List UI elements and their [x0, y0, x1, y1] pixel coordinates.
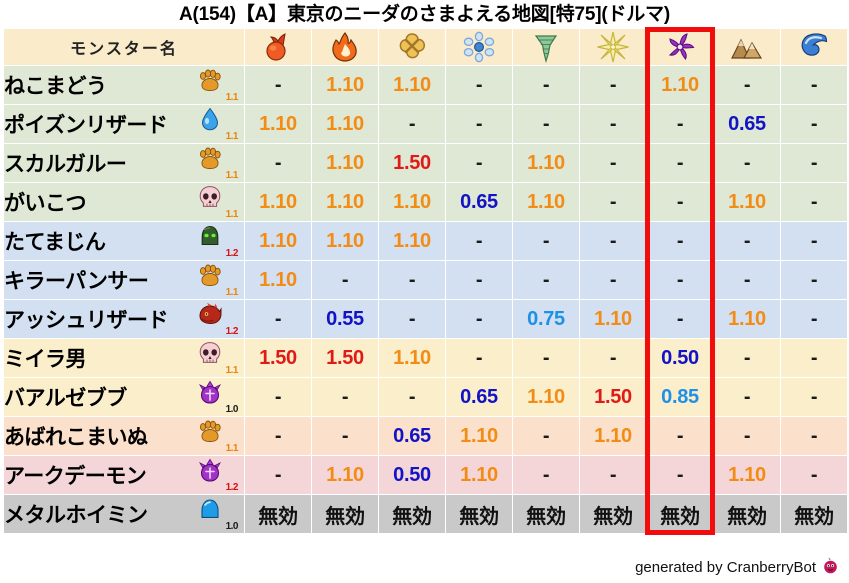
cell-doruma: 無効 [647, 495, 713, 533]
cell-mera: - [245, 456, 311, 494]
monster-name-cell[interactable]: たてまじん1.2 [4, 222, 244, 260]
table-row[interactable]: たてまじん1.21.101.101.10------ [4, 222, 847, 260]
cell-jibaria: - [714, 339, 780, 377]
cell-io: 0.65 [379, 417, 445, 455]
cell-jibaria: - [714, 222, 780, 260]
table-row[interactable]: キラーパンサー1.11.10-------- [4, 261, 847, 299]
cell-gira: 1.10 [312, 66, 378, 104]
header-element-bagi[interactable] [513, 29, 579, 65]
cell-io: 1.10 [379, 66, 445, 104]
table-row[interactable]: アッシュリザード1.2-0.55--0.751.10-1.10- [4, 300, 847, 338]
cell-doruma: 0.85 [647, 378, 713, 416]
cell-merag: - [781, 300, 847, 338]
cell-hyado: 1.10 [446, 417, 512, 455]
cell-dein: - [580, 66, 646, 104]
monster-name-label: がいこつ [4, 187, 86, 217]
header-element-hyado[interactable] [446, 29, 512, 65]
cell-mera: - [245, 66, 311, 104]
cell-jibaria: - [714, 378, 780, 416]
cell-mera: - [245, 300, 311, 338]
monster-version-label: 1.1 [226, 366, 238, 376]
monster-type-badge: 1.1 [194, 419, 238, 453]
cell-gira: 1.10 [312, 105, 378, 143]
cell-dein: - [580, 105, 646, 143]
cell-merag: - [781, 339, 847, 377]
monster-version-label: 1.0 [226, 405, 238, 415]
monster-name-cell[interactable]: アッシュリザード1.2 [4, 300, 244, 338]
cell-dein: 1.10 [580, 417, 646, 455]
monster-type-badge: 1.1 [194, 68, 238, 102]
cell-jibaria: - [714, 261, 780, 299]
table-row[interactable]: ミイラ男1.11.501.501.10---0.50-- [4, 339, 847, 377]
cell-bagi: - [513, 417, 579, 455]
monster-version-label: 1.1 [226, 210, 238, 220]
cell-bagi: 1.10 [513, 144, 579, 182]
cell-bagi: - [513, 456, 579, 494]
monster-version-label: 1.2 [226, 327, 238, 337]
cell-jibaria: 無効 [714, 495, 780, 533]
header-element-doruma[interactable] [647, 29, 713, 65]
cell-hyado: - [446, 300, 512, 338]
cell-bagi: 1.10 [513, 378, 579, 416]
monster-name-label: アークデーモン [4, 460, 146, 490]
cell-hyado: 0.65 [446, 378, 512, 416]
cell-io: 1.10 [379, 222, 445, 260]
cell-jibaria: - [714, 417, 780, 455]
monster-type-badge: 1.2 [194, 458, 238, 492]
table-body: ねこまどう1.1-1.101.10---1.10--ポイズンリザード1.11.1… [4, 66, 847, 533]
footer-credit: generated by CranberryBot [635, 557, 839, 577]
waterdrop-icon [196, 107, 224, 137]
table-row[interactable]: メタルホイミン1.0無効無効無効無効無効無効無効無効無効 [4, 495, 847, 533]
monster-type-badge: 1.0 [194, 497, 238, 531]
pinwheel-icon [647, 31, 713, 63]
lightstar-icon [580, 31, 646, 63]
footer-text: generated by CranberryBot [635, 559, 816, 576]
cell-doruma: - [647, 144, 713, 182]
monster-type-badge: 1.1 [194, 146, 238, 180]
table-row[interactable]: バアルゼブブ1.0---0.651.101.500.85-- [4, 378, 847, 416]
monster-name-label: スカルガルー [4, 148, 126, 178]
monster-name-label: アッシュリザード [4, 304, 168, 334]
header-element-dein[interactable] [580, 29, 646, 65]
cell-doruma: 0.50 [647, 339, 713, 377]
cell-dein: - [580, 456, 646, 494]
monster-name-label: ミイラ男 [4, 343, 86, 373]
cell-merag: - [781, 144, 847, 182]
cell-mera: 1.10 [245, 222, 311, 260]
cell-io: - [379, 261, 445, 299]
table-row[interactable]: アークデーモン1.2-1.100.501.10---1.10- [4, 456, 847, 494]
cell-hyado: 1.10 [446, 456, 512, 494]
table-row[interactable]: あばれこまいぬ1.1--0.651.10-1.10--- [4, 417, 847, 455]
header-element-jibaria[interactable] [714, 29, 780, 65]
cell-bagi: 1.10 [513, 183, 579, 221]
flame-icon [312, 31, 378, 63]
cell-hyado: 無効 [446, 495, 512, 533]
cell-doruma: - [647, 300, 713, 338]
cell-mera: 1.50 [245, 339, 311, 377]
cranberry-icon [822, 557, 839, 577]
cell-io: 無効 [379, 495, 445, 533]
pawprint-icon [196, 419, 224, 449]
cell-gira: 1.10 [312, 456, 378, 494]
cell-doruma: - [647, 456, 713, 494]
cell-io: 0.50 [379, 456, 445, 494]
cell-dein: 1.50 [580, 378, 646, 416]
header-element-merag[interactable] [781, 29, 847, 65]
cell-mera: - [245, 417, 311, 455]
monster-name-label: あばれこまいぬ [4, 421, 148, 451]
mountain-icon [714, 31, 780, 63]
cell-io: 1.10 [379, 183, 445, 221]
cell-hyado: - [446, 339, 512, 377]
cell-merag: - [781, 105, 847, 143]
table-row[interactable]: ポイズンリザード1.11.101.10-----0.65- [4, 105, 847, 143]
monster-type-badge: 1.1 [194, 185, 238, 219]
header-element-mera[interactable] [245, 29, 311, 65]
monster-version-label: 1.1 [226, 444, 238, 454]
wave-icon [781, 31, 847, 63]
demon-icon [196, 380, 224, 410]
snowflake-icon [446, 31, 512, 63]
monster-name-cell[interactable]: ねこまどう1.1 [4, 66, 244, 104]
cell-jibaria: 1.10 [714, 300, 780, 338]
monster-version-label: 1.1 [226, 93, 238, 103]
cell-dein: - [580, 144, 646, 182]
cell-gira: - [312, 378, 378, 416]
cell-jibaria: - [714, 66, 780, 104]
cell-mera: 1.10 [245, 105, 311, 143]
cell-dein: - [580, 339, 646, 377]
cell-doruma: 1.10 [647, 66, 713, 104]
cell-gira: 1.10 [312, 222, 378, 260]
cell-dein: 1.10 [580, 300, 646, 338]
monster-name-cell[interactable]: バアルゼブブ1.0 [4, 378, 244, 416]
monster-type-badge: 1.1 [194, 107, 238, 141]
monster-name-cell[interactable]: ポイズンリザード1.1 [4, 105, 244, 143]
monster-name-cell[interactable]: キラーパンサー1.1 [4, 261, 244, 299]
explosion-icon [379, 31, 445, 63]
monster-name-cell[interactable]: スカルガルー1.1 [4, 144, 244, 182]
cell-mera: 1.10 [245, 183, 311, 221]
cell-bagi: 無効 [513, 495, 579, 533]
cell-io: 1.10 [379, 339, 445, 377]
cell-mera: 無効 [245, 495, 311, 533]
cell-doruma: - [647, 261, 713, 299]
monster-type-badge: 1.2 [194, 302, 238, 336]
cell-merag: - [781, 66, 847, 104]
pawprint-icon [196, 146, 224, 176]
cell-merag: - [781, 456, 847, 494]
cell-jibaria: 0.65 [714, 105, 780, 143]
cell-merag: - [781, 183, 847, 221]
header-name-column: モンスター名 [4, 29, 244, 65]
monster-version-label: 1.1 [226, 171, 238, 181]
cell-hyado: - [446, 222, 512, 260]
monster-type-badge: 1.2 [194, 224, 238, 258]
table-row[interactable]: スカルガルー1.1-1.101.50-1.10---- [4, 144, 847, 182]
monster-version-label: 1.2 [226, 483, 238, 493]
cell-gira: 1.10 [312, 144, 378, 182]
pawprint-icon [196, 263, 224, 293]
cell-merag: - [781, 417, 847, 455]
cell-bagi: 0.75 [513, 300, 579, 338]
header-element-io[interactable] [379, 29, 445, 65]
table-header: モンスター名 [4, 29, 847, 65]
cell-mera: 1.10 [245, 261, 311, 299]
cell-doruma: - [647, 105, 713, 143]
cell-jibaria: 1.10 [714, 456, 780, 494]
resistance-table: モンスター名 ねこまどう1.1-1.101.10---1.10--ポイズンリザー… [3, 28, 848, 534]
monster-name-cell[interactable]: ミイラ男1.1 [4, 339, 244, 377]
monster-name-label: バアルゼブブ [4, 382, 127, 412]
cell-gira: 1.10 [312, 183, 378, 221]
cell-jibaria: 1.10 [714, 183, 780, 221]
cell-merag: - [781, 261, 847, 299]
slime-blue-icon [196, 497, 224, 527]
cell-bagi: - [513, 105, 579, 143]
cell-dein: 無効 [580, 495, 646, 533]
cell-bagi: - [513, 339, 579, 377]
cell-bagi: - [513, 222, 579, 260]
cell-io: - [379, 105, 445, 143]
monster-version-label: 1.1 [226, 288, 238, 298]
tornado-icon [513, 31, 579, 63]
monster-name-label: ねこまどう [4, 70, 107, 100]
monster-type-badge: 1.0 [194, 380, 238, 414]
header-row: モンスター名 [4, 29, 847, 65]
monster-type-badge: 1.1 [194, 263, 238, 297]
cell-bagi: - [513, 261, 579, 299]
table-row[interactable]: がいこつ1.11.101.101.100.651.10--1.10- [4, 183, 847, 221]
cell-io: - [379, 300, 445, 338]
cell-mera: - [245, 144, 311, 182]
cell-hyado: - [446, 144, 512, 182]
cell-gira: 1.50 [312, 339, 378, 377]
skull-icon [196, 185, 224, 215]
monster-type-badge: 1.1 [194, 341, 238, 375]
monster-name-label: メタルホイミン [4, 499, 148, 529]
monster-version-label: 1.2 [226, 249, 238, 259]
table-row[interactable]: ねこまどう1.1-1.101.10---1.10-- [4, 66, 847, 104]
monster-name-cell[interactable]: メタルホイミン1.0 [4, 495, 244, 533]
cell-dein: - [580, 183, 646, 221]
monster-name-cell[interactable]: アークデーモン1.2 [4, 456, 244, 494]
monster-name-cell[interactable]: がいこつ1.1 [4, 183, 244, 221]
cell-doruma: - [647, 183, 713, 221]
cell-hyado: - [446, 261, 512, 299]
monster-name-label: たてまじん [4, 226, 105, 256]
cell-gira: - [312, 261, 378, 299]
fireball-icon [245, 31, 311, 63]
monster-name-label: キラーパンサー [4, 265, 148, 295]
page-title: A(154)【A】東京のニーダのさまよえる地図[特75](ドルマ) [0, 0, 849, 28]
cell-jibaria: - [714, 144, 780, 182]
cell-gira: 0.55 [312, 300, 378, 338]
cell-hyado: 0.65 [446, 183, 512, 221]
cell-gira: 無効 [312, 495, 378, 533]
cell-dein: - [580, 222, 646, 260]
header-element-gira[interactable] [312, 29, 378, 65]
demon-icon [196, 458, 224, 488]
cell-doruma: - [647, 417, 713, 455]
slime-dark-icon [196, 224, 224, 254]
cell-io: 1.50 [379, 144, 445, 182]
cell-io: - [379, 378, 445, 416]
dragon-icon [196, 302, 224, 332]
cell-merag: 無効 [781, 495, 847, 533]
resistance-table-wrap: モンスター名 ねこまどう1.1-1.101.10---1.10--ポイズンリザー… [0, 28, 849, 534]
cell-merag: - [781, 378, 847, 416]
monster-name-cell[interactable]: あばれこまいぬ1.1 [4, 417, 244, 455]
cell-mera: - [245, 378, 311, 416]
cell-dein: - [580, 261, 646, 299]
pawprint-icon [196, 68, 224, 98]
cell-hyado: - [446, 105, 512, 143]
cell-hyado: - [446, 66, 512, 104]
monster-version-label: 1.0 [226, 522, 238, 532]
cell-merag: - [781, 222, 847, 260]
monster-version-label: 1.1 [226, 132, 238, 142]
monster-name-label: ポイズンリザード [4, 109, 167, 139]
skull-icon [196, 341, 224, 371]
cell-bagi: - [513, 66, 579, 104]
cell-gira: - [312, 417, 378, 455]
cell-doruma: - [647, 222, 713, 260]
